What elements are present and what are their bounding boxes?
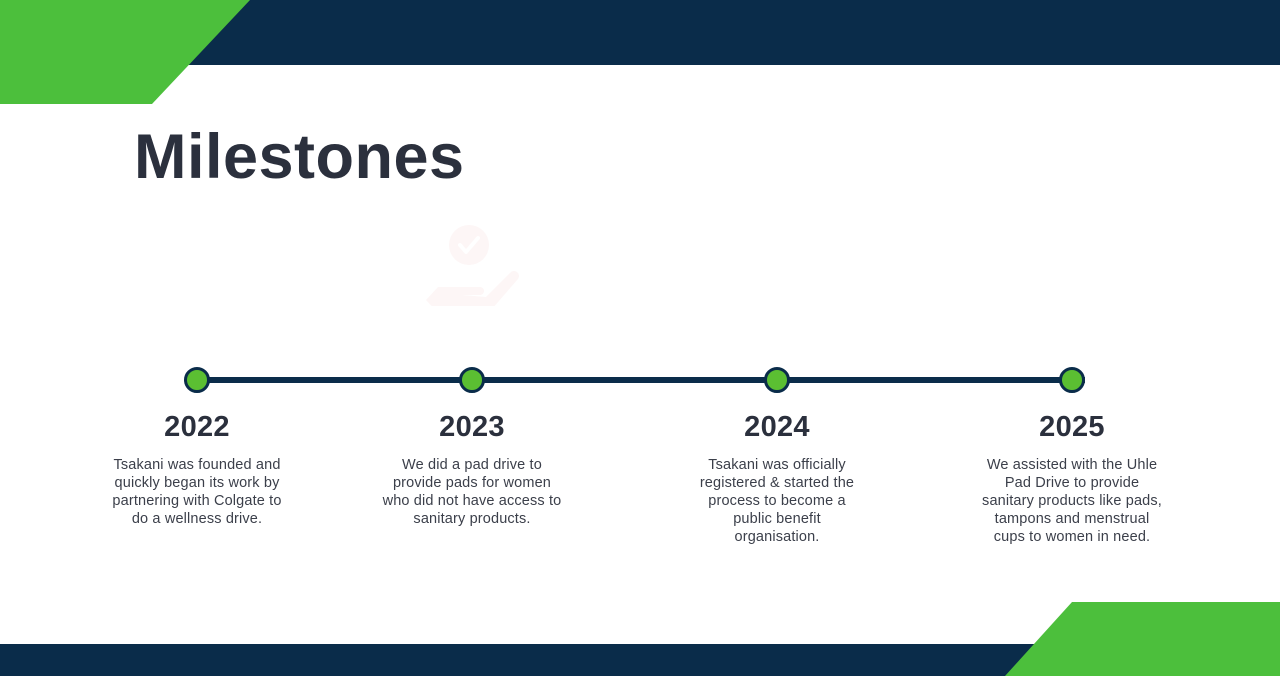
milestone-dot-icon[interactable] [1059,367,1085,393]
milestone-year: 2025 [972,413,1172,442]
milestone-year: 2023 [372,413,572,442]
timeline: 2022 Tsakani was founded and quickly beg… [0,0,1280,676]
milestone-2024[interactable]: 2024 Tsakani was officially registered &… [677,367,877,546]
timeline-axis-line [185,377,1085,383]
milestone-dot-icon[interactable] [459,367,485,393]
milestone-2022[interactable]: 2022 Tsakani was founded and quickly beg… [97,367,297,528]
milestone-2023[interactable]: 2023 We did a pad drive to provide pads … [372,367,572,528]
milestone-description: We assisted with the Uhle Pad Drive to p… [982,456,1162,546]
milestone-description: We did a pad drive to provide pads for w… [382,456,562,528]
slide-canvas: Milestones 2022 Tsakani was founded and … [0,0,1280,676]
milestone-dot-icon[interactable] [184,367,210,393]
milestone-year: 2024 [677,413,877,442]
milestone-dot-icon[interactable] [764,367,790,393]
milestone-description: Tsakani was founded and quickly began it… [104,456,290,528]
milestone-year: 2022 [97,413,297,442]
milestone-2025[interactable]: 2025 We assisted with the Uhle Pad Drive… [972,367,1172,546]
milestone-description: Tsakani was officially registered & star… [692,456,862,546]
